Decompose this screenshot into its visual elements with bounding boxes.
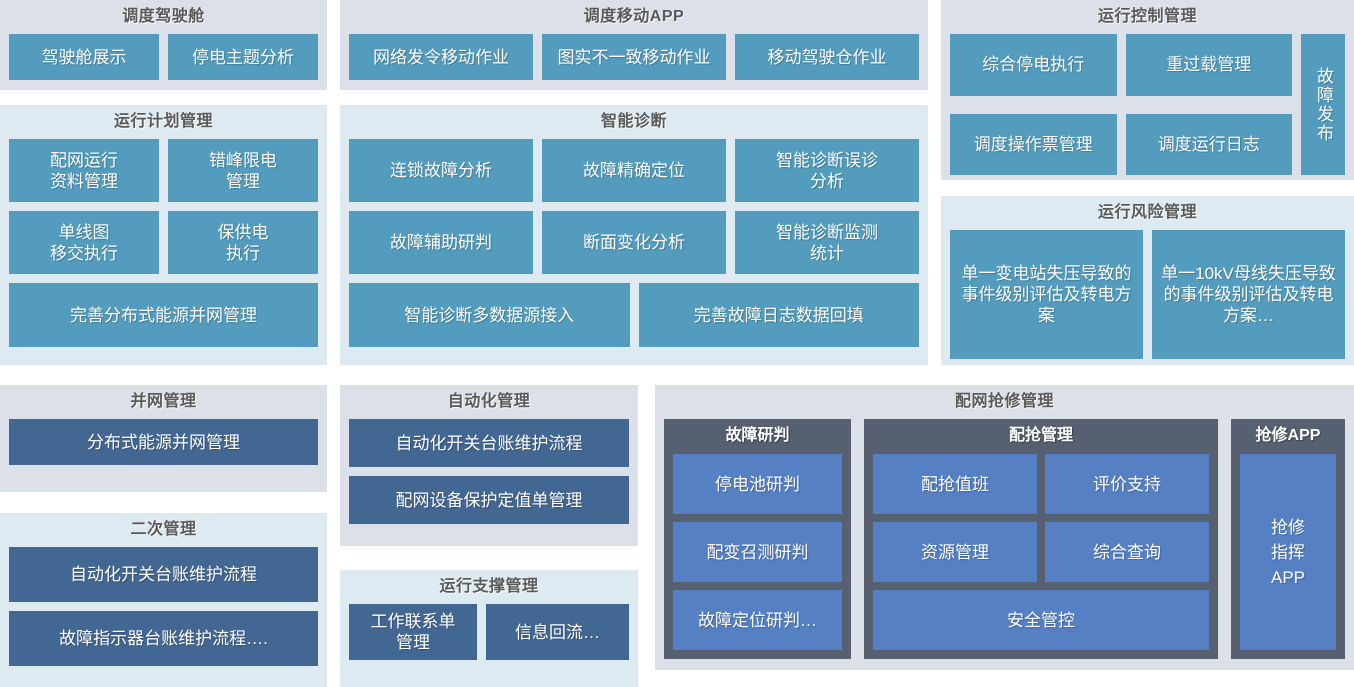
tile-single-substation-voltage-loss-plan[interactable]: 单一变电站失压导致的事件级别评估及转电方案 (950, 230, 1143, 359)
tile-dispatch-operation-log[interactable]: 调度运行日志 (1126, 114, 1293, 176)
group-fault-judgement: 故障研判 停电池研判 配变召测研判 故障定位研判… (664, 419, 851, 659)
tile-section-change-analysis[interactable]: 断面变化分析 (542, 211, 726, 274)
tile-peak-shifting-power-limit-mgmt[interactable]: 错峰限电 管理 (168, 139, 318, 202)
panel-title-dispatch-cockpit: 调度驾驶舱 (9, 6, 318, 28)
panel-grid-connection: 并网管理 分布式能源并网管理 (0, 385, 327, 492)
tile-repair-duty[interactable]: 配抢值班 (873, 454, 1037, 514)
tile-overload-management[interactable]: 重过载管理 (1126, 34, 1293, 96)
tile-integrated-outage-execution[interactable]: 综合停电执行 (950, 34, 1117, 96)
tile-smart-diagnosis-monitoring-statistics[interactable]: 智能诊断监测 统计 (735, 211, 919, 274)
architecture-diagram: 调度驾驶舱 驾驶舱展示 停电主题分析 运行计划管理 配网运行 资料管理 错峰限电… (0, 0, 1354, 687)
panel-title-operation-plan: 运行计划管理 (9, 111, 318, 133)
group-title-repair-dispatch: 配抢管理 (873, 425, 1209, 447)
tile-guaranteed-power-execution[interactable]: 保供电 执行 (168, 211, 318, 274)
tile-comprehensive-query[interactable]: 综合查询 (1045, 522, 1209, 582)
tile-distributed-energy-grid-mgmt[interactable]: 分布式能源并网管理 (9, 419, 318, 465)
panel-title-automation-management: 自动化管理 (349, 391, 629, 413)
tile-work-contact-form-mgmt[interactable]: 工作联系单 管理 (349, 604, 477, 660)
tile-safety-control[interactable]: 安全管控 (873, 590, 1209, 650)
panel-title-secondary-management: 二次管理 (9, 519, 318, 541)
tile-dispatch-operation-ticket-mgmt[interactable]: 调度操作票管理 (950, 114, 1117, 176)
panel-dispatch-cockpit: 调度驾驶舱 驾驶舱展示 停电主题分析 (0, 0, 327, 90)
panel-operation-support: 运行支撑管理 工作联系单 管理 信息回流… (340, 570, 638, 687)
tile-fault-precise-location[interactable]: 故障精确定位 (542, 139, 726, 202)
tile-outage-pool-judgement[interactable]: 停电池研判 (673, 454, 842, 514)
panel-title-repair-management: 配网抢修管理 (664, 391, 1345, 413)
panel-repair-management: 配网抢修管理 故障研判 停电池研判 配变召测研判 故障定位研判… 配抢管理 配抢… (655, 385, 1354, 670)
tile-improve-fault-log-data-backfill[interactable]: 完善故障日志数据回填 (639, 283, 920, 347)
tile-automation-switch-ledger-maintenance[interactable]: 自动化开关台账维护流程 (349, 419, 629, 467)
panel-operation-plan: 运行计划管理 配网运行 资料管理 错峰限电 管理 单线图 移交执行 保供电 执行… (0, 105, 327, 365)
panel-title-dispatch-mobile-app: 调度移动APP (349, 6, 919, 28)
tile-fault-location-judgement[interactable]: 故障定位研判… (673, 590, 842, 650)
panel-title-operation-control: 运行控制管理 (950, 6, 1345, 28)
tile-evaluation-support[interactable]: 评价支持 (1045, 454, 1209, 514)
panel-title-smart-diagnosis: 智能诊断 (349, 111, 919, 133)
panel-title-operation-support: 运行支撑管理 (349, 576, 629, 598)
panel-title-operation-risk: 运行风险管理 (950, 202, 1345, 224)
tile-cockpit-display[interactable]: 驾驶舱展示 (9, 34, 159, 80)
panel-secondary-management: 二次管理 自动化开关台账维护流程 故障指示器台账维护流程…. (0, 513, 327, 687)
tile-single-10kv-busbar-voltage-loss-plan[interactable]: 单一10kV母线失压导致的事件级别评估及转电方案… (1152, 230, 1345, 359)
panel-dispatch-mobile-app: 调度移动APP 网络发令移动作业 图实不一致移动作业 移动驾驶仓作业 (340, 0, 928, 90)
tile-distribution-device-protection-setting-mgmt[interactable]: 配网设备保护定值单管理 (349, 476, 629, 524)
tile-network-order-mobile-task[interactable]: 网络发令移动作业 (349, 34, 533, 80)
tile-smart-diagnosis-multi-source-access[interactable]: 智能诊断多数据源接入 (349, 283, 630, 347)
panel-smart-diagnosis: 智能诊断 连锁故障分析 故障精确定位 智能诊断误诊 分析 故障辅助研判 断面变化… (340, 105, 928, 365)
group-repair-app: 抢修APP 抢修 指挥 APP (1231, 419, 1345, 659)
tile-fault-indicator-ledger-process[interactable]: 故障指示器台账维护流程…. (9, 611, 318, 666)
tile-diagram-reality-mismatch-mobile-task[interactable]: 图实不一致移动作业 (542, 34, 726, 80)
tile-mobile-cockpit-task[interactable]: 移动驾驶仓作业 (735, 34, 919, 80)
panel-operation-risk: 运行风险管理 单一变电站失压导致的事件级别评估及转电方案 单一10kV母线失压导… (941, 196, 1354, 365)
tile-resource-management[interactable]: 资源管理 (873, 522, 1037, 582)
tile-single-line-diagram-handover[interactable]: 单线图 移交执行 (9, 211, 159, 274)
tile-outage-topic-analysis[interactable]: 停电主题分析 (168, 34, 318, 80)
group-title-repair-app: 抢修APP (1240, 425, 1336, 447)
tile-cascading-fault-analysis[interactable]: 连锁故障分析 (349, 139, 533, 202)
tile-repair-command-app[interactable]: 抢修 指挥 APP (1240, 454, 1336, 650)
tile-smart-diagnosis-misdiagnosis-analysis[interactable]: 智能诊断误诊 分析 (735, 139, 919, 202)
tile-fault-assisted-judgement[interactable]: 故障辅助研判 (349, 211, 533, 274)
tile-improve-distributed-energy-grid-mgmt[interactable]: 完善分布式能源并网管理 (9, 283, 318, 347)
tile-automation-switch-ledger-process[interactable]: 自动化开关台账维护流程 (9, 547, 318, 602)
group-repair-dispatch: 配抢管理 配抢值班 评价支持 资源管理 综合查询 安全管控 (864, 419, 1218, 659)
tile-information-backflow[interactable]: 信息回流… (486, 604, 629, 660)
tile-transformer-call-measure-judgement[interactable]: 配变召测研判 (673, 522, 842, 582)
panel-operation-control: 运行控制管理 综合停电执行 重过载管理 调度操作票管理 调度运行日志 故障发布 (941, 0, 1354, 180)
tile-fault-publication[interactable]: 故障发布 (1301, 34, 1345, 175)
tile-distribution-operation-data-mgmt[interactable]: 配网运行 资料管理 (9, 139, 159, 202)
panel-automation-management: 自动化管理 自动化开关台账维护流程 配网设备保护定值单管理 (340, 385, 638, 546)
group-title-fault-judgement: 故障研判 (673, 425, 842, 447)
panel-title-grid-connection: 并网管理 (9, 391, 318, 413)
